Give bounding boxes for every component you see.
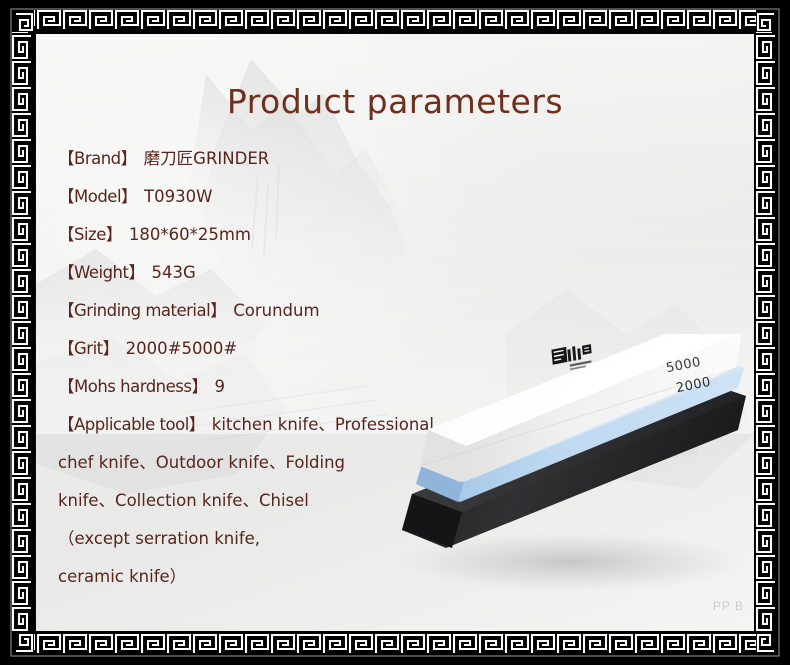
- spec-row-size: 【Size】180*60*25mm: [58, 216, 488, 254]
- image-plate: Product parameters 【Brand】磨刀匠GRINDER 【Mo…: [0, 0, 790, 665]
- spec-row-grinding-material: 【Grinding material】Corundum: [58, 292, 488, 330]
- spec-value-applicable-tool-line2: chef knife、Outdoor knife、Folding: [58, 453, 345, 472]
- watermark: PP B: [713, 599, 744, 613]
- spec-value-grinding-material: Corundum: [226, 301, 319, 320]
- spec-key-mohs-hardness: 【Mohs hardness】: [58, 377, 207, 396]
- spec-value-size: 180*60*25mm: [122, 225, 251, 244]
- spec-value-weight: 543G: [144, 263, 195, 282]
- spec-value-model: T0930W: [137, 187, 212, 206]
- spec-key-grinding-material: 【Grinding material】: [58, 301, 226, 320]
- spec-key-model: 【Model】: [58, 187, 137, 206]
- spec-value-brand: 磨刀匠GRINDER: [137, 149, 270, 168]
- spec-value-applicable-tool-line4: （except serration knife,: [58, 529, 260, 548]
- spec-value-applicable-tool-line3: knife、Collection knife、Chisel: [58, 491, 309, 510]
- spec-key-brand: 【Brand】: [58, 149, 137, 168]
- content-canvas: Product parameters 【Brand】磨刀匠GRINDER 【Mo…: [36, 34, 754, 631]
- spec-key-size: 【Size】: [58, 225, 122, 244]
- spec-value-mohs-hardness: 9: [207, 377, 225, 396]
- page-title: Product parameters: [36, 82, 754, 121]
- spec-row-brand: 【Brand】磨刀匠GRINDER: [58, 140, 488, 178]
- spec-row-model: 【Model】T0930W: [58, 178, 488, 216]
- spec-key-weight: 【Weight】: [58, 263, 144, 282]
- spec-row-weight: 【Weight】543G: [58, 254, 488, 292]
- spec-key-applicable-tool: 【Applicable tool】: [58, 415, 205, 434]
- spec-key-grit: 【Grit】: [58, 339, 119, 358]
- spec-value-applicable-tool-line5: ceramic knife）: [58, 567, 186, 586]
- product-image-whetstone: 5000 2000: [366, 334, 754, 604]
- spec-value-grit: 2000#5000#: [119, 339, 238, 358]
